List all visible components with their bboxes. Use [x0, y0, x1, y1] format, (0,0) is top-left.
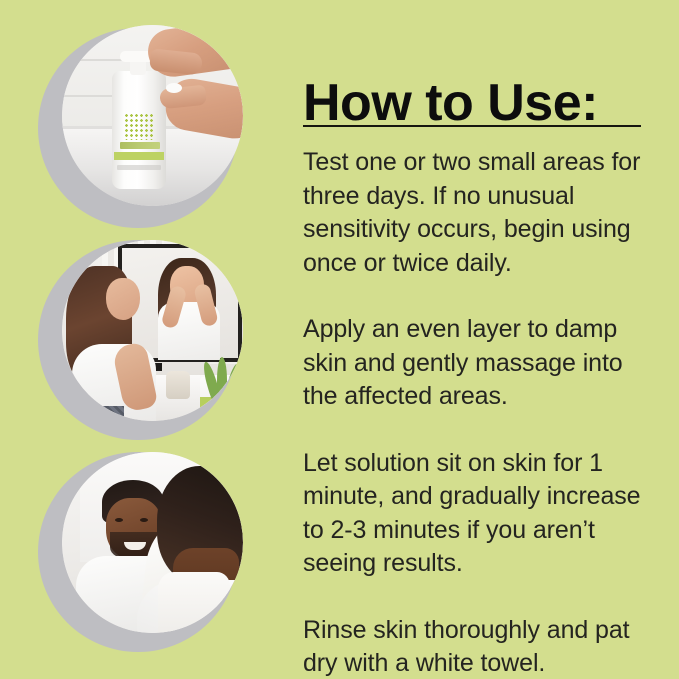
photo-dispensing-product — [62, 25, 243, 206]
photo-patting-dry — [62, 452, 243, 633]
steps-list: Test one or two small areas for three da… — [303, 146, 649, 679]
how-to-use-infographic: How to Use: Test one or two small areas … — [0, 0, 679, 679]
title-divider — [303, 125, 641, 127]
photo-applying-to-face — [62, 240, 243, 421]
step-apply: Apply an even layer to damp skin and gen… — [303, 313, 649, 414]
step-patch-test: Test one or two small areas for three da… — [303, 146, 649, 280]
step-rinse: Rinse skin thoroughly and pat dry with a… — [303, 614, 649, 679]
image-column — [0, 0, 280, 679]
instructions-column: How to Use: Test one or two small areas … — [303, 0, 649, 679]
step-wait: Let solution sit on skin for 1 minute, a… — [303, 447, 649, 581]
page-title: How to Use: — [303, 75, 598, 131]
